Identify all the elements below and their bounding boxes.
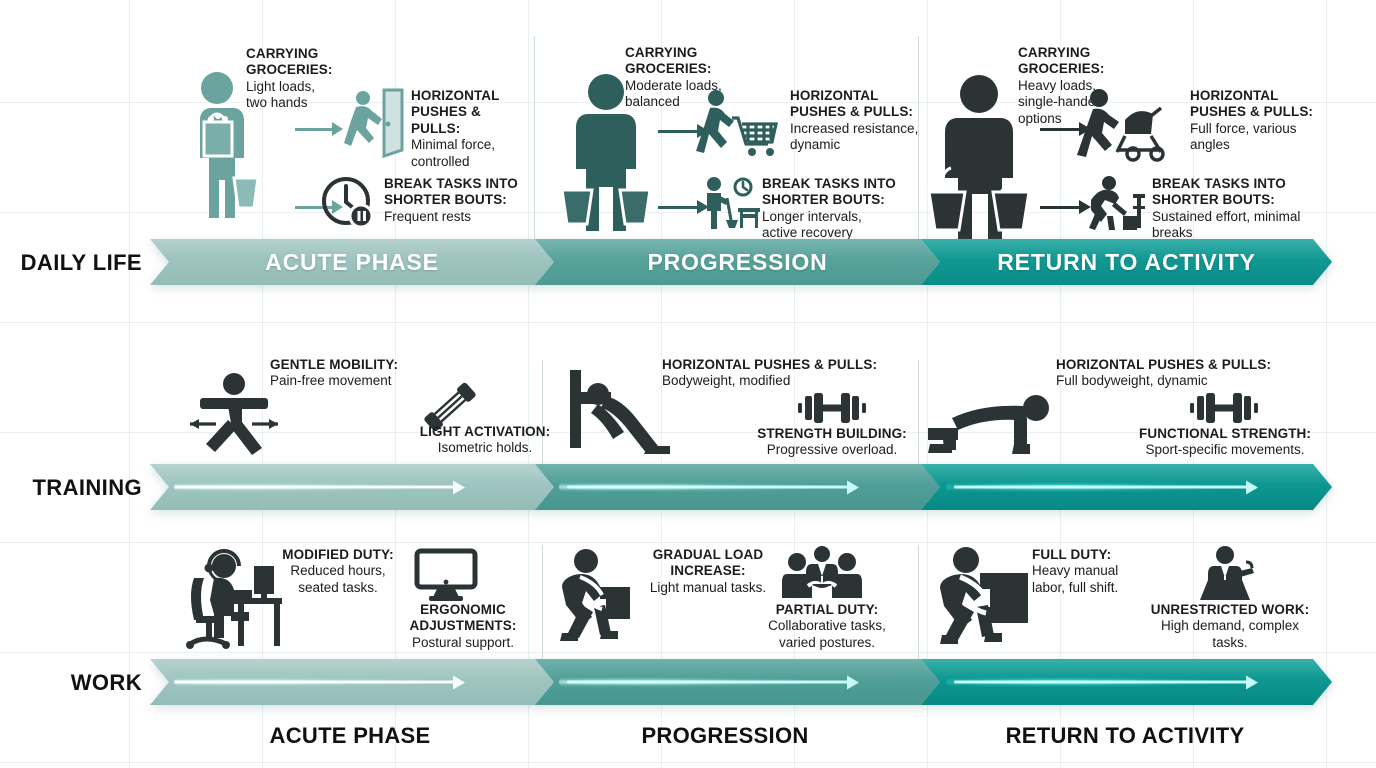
- bottom-caption-progression: PROGRESSION: [565, 723, 885, 749]
- tr-p3-item2-title: FUNCTIONAL STRENGTH:: [1125, 426, 1325, 442]
- wk-p3-item2-desc: High demand, complex tasks.: [1140, 618, 1320, 651]
- phase-segment-acute[interactable]: ACUTE PHASE: [150, 239, 554, 285]
- training-segment-return[interactable]: [921, 464, 1332, 510]
- person-lifting-small-box-icon: [560, 549, 638, 645]
- tr-p1-item1-title: GENTLE MOBILITY:: [270, 357, 470, 373]
- dl-p1-item1-title: CARRYING GROCERIES:: [246, 46, 361, 79]
- dl-p1-item3-text: BREAK TASKS INTO SHORTER BOUTS: Frequent…: [384, 176, 524, 225]
- dl-p3-item2-desc: Full force, various angles: [1190, 121, 1330, 154]
- clock-pause-icon: [320, 175, 378, 233]
- tr-p2-item1-title: HORIZONTAL PUSHES & PULLS:: [662, 357, 912, 373]
- wk-p2-item2-title: PARTIAL DUTY:: [752, 602, 902, 618]
- wk-p3-item2-text: UNRESTRICTED WORK: High demand, complex …: [1140, 602, 1320, 651]
- row-label-work: WORK: [0, 670, 142, 696]
- wk-p1-item1-text: MODIFIED DUTY: Reduced hours, seated tas…: [258, 547, 418, 596]
- dl-p2-item2-desc: Increased resistance, dynamic: [790, 121, 925, 154]
- dl-p3-connector-2: [1040, 200, 1091, 214]
- dl-p2-item3-text: BREAK TASKS INTO SHORTER BOUTS: Longer i…: [762, 176, 902, 242]
- dl-p3-item1-title: CARRYING GROCERIES:: [1018, 45, 1168, 78]
- training-arrow-1: [174, 484, 465, 491]
- dumbbell-icon: [798, 392, 866, 424]
- bottom-caption-acute: ACUTE PHASE: [190, 723, 510, 749]
- wk-p3-item2-title: UNRESTRICTED WORK:: [1140, 602, 1320, 618]
- wk-p2-item1-text: GRADUAL LOAD INCREASE: Light manual task…: [628, 547, 788, 596]
- training-arrow-3: [954, 484, 1258, 491]
- wk-p3-item1-desc: Heavy manual labor, full shift.: [1032, 563, 1182, 596]
- tr-p2-item2-title: STRENGTH BUILDING:: [742, 426, 922, 442]
- tr-p2-item2-text: STRENGTH BUILDING: Progressive overload.: [742, 426, 922, 459]
- dl-p3-item2-title: HORIZONTAL PUSHES & PULLS:: [1190, 88, 1330, 121]
- training-segment-progression[interactable]: [535, 464, 940, 510]
- tr-p3-item2-desc: Sport-specific movements.: [1125, 442, 1325, 458]
- progress-band-work: [150, 659, 1332, 705]
- phase-segment-return[interactable]: RETURN TO ACTIVITY: [921, 239, 1332, 285]
- tr-p3-item1-text: HORIZONTAL PUSHES & PULLS: Full bodyweig…: [1056, 357, 1316, 390]
- tr-p1-item2-title: LIGHT ACTIVATION:: [385, 424, 585, 440]
- wk-p2-item2-text: PARTIAL DUTY: Collaborative tasks, varie…: [752, 602, 902, 651]
- work-arrow-3: [954, 679, 1258, 686]
- dl-p3-item3-title: BREAK TASKS INTO SHORTER BOUTS:: [1152, 176, 1320, 209]
- work-arrow-2: [567, 679, 859, 686]
- tr-p3-item1-title: HORIZONTAL PUSHES & PULLS:: [1056, 357, 1316, 373]
- dumbbell-icon: [1190, 392, 1258, 424]
- incline-pushup-icon: [562, 370, 678, 458]
- dl-p3-item2-text: HORIZONTAL PUSHES & PULLS: Full force, v…: [1190, 88, 1330, 154]
- tr-p1-item2-desc: Isometric holds.: [385, 440, 585, 456]
- dl-p2-item3-title: BREAK TASKS INTO SHORTER BOUTS:: [762, 176, 902, 209]
- tr-p3-item1-desc: Full bodyweight, dynamic: [1056, 373, 1316, 389]
- wk-p3-item1-title: FULL DUTY:: [1032, 547, 1182, 563]
- column-divider-1: [534, 36, 535, 258]
- work-segment-return[interactable]: [921, 659, 1332, 705]
- row-label-training: TRAINING: [0, 475, 142, 501]
- training-segment-acute[interactable]: [150, 464, 554, 510]
- wk-p2-item1-title: GRADUAL LOAD INCREASE:: [628, 547, 788, 580]
- dl-p2-item1-title: CARRYING GROCERIES:: [625, 45, 785, 78]
- dl-p3-item3-desc: Sustained effort, minimal breaks: [1152, 209, 1320, 242]
- tr-p2-item2-desc: Progressive overload.: [742, 442, 922, 458]
- wk-p2-item1-desc: Light manual tasks.: [628, 580, 788, 596]
- tr-p3-item2-text: FUNCTIONAL STRENGTH: Sport-specific move…: [1125, 426, 1325, 459]
- dl-p1-connector-1: [295, 122, 343, 136]
- dl-p1-item3-title: BREAK TASKS INTO SHORTER BOUTS:: [384, 176, 524, 209]
- phase-segment-return-label: RETURN TO ACTIVITY: [997, 249, 1255, 276]
- dl-p1-item3-desc: Frequent rests: [384, 209, 524, 225]
- wk-p1-item2-text: ERGONOMIC ADJUSTMENTS: Postural support.: [378, 602, 548, 651]
- dl-p1-item1-desc: Light loads, two hands: [246, 79, 361, 112]
- person-mopping-clock-icon: [700, 176, 762, 230]
- person-shopping-cart-icon: [700, 88, 780, 162]
- person-gardening-icon: [1085, 176, 1149, 232]
- team-group-icon: [784, 546, 860, 598]
- person-carrying-large-box-icon: [942, 547, 1034, 647]
- person-pushing-stroller-icon: [1085, 86, 1171, 162]
- work-segment-acute[interactable]: [150, 659, 554, 705]
- training-arrow-2: [567, 484, 859, 491]
- rehabilitation-progression-infographic: CARRYING GROCERIES: Light loads, two han…: [0, 0, 1376, 768]
- work-segment-progression[interactable]: [535, 659, 940, 705]
- wk-p1-item1-title: MODIFIED DUTY:: [258, 547, 418, 563]
- dl-p1-item1-text: CARRYING GROCERIES: Light loads, two han…: [246, 46, 361, 112]
- dl-p2-item3-desc: Longer intervals, active recovery: [762, 209, 902, 242]
- dl-p3-item3-text: BREAK TASKS INTO SHORTER BOUTS: Sustaine…: [1152, 176, 1320, 242]
- phase-segment-progression-label: PROGRESSION: [647, 249, 827, 276]
- progress-band-training: [150, 464, 1332, 510]
- row-label-daily-life: DAILY LIFE: [0, 250, 142, 276]
- tr-p1-item2-text: LIGHT ACTIVATION: Isometric holds.: [385, 424, 585, 457]
- tr-p2-item1-desc: Bodyweight, modified: [662, 373, 912, 389]
- wk-p1-item2-title: ERGONOMIC ADJUSTMENTS:: [378, 602, 548, 635]
- wk-p2-item2-desc: Collaborative tasks, varied postures.: [752, 618, 902, 651]
- person-at-podium-icon: [1192, 546, 1258, 600]
- dl-p2-item2-text: HORIZONTAL PUSHES & PULLS: Increased res…: [790, 88, 925, 154]
- wk-p1-item2-desc: Postural support.: [378, 635, 548, 651]
- column-divider-6: [918, 545, 919, 660]
- phase-segment-acute-label: ACUTE PHASE: [265, 249, 439, 276]
- dl-p1-item2-desc: Minimal force, controlled: [411, 137, 531, 170]
- phase-segment-progression[interactable]: PROGRESSION: [535, 239, 940, 285]
- person-pushing-door-icon: [348, 86, 404, 158]
- work-arrow-1: [174, 679, 465, 686]
- phase-band-daily-life: ACUTE PHASE PROGRESSION RETURN TO ACTIVI…: [150, 239, 1332, 285]
- dl-p1-item2-text: HORIZONTAL PUSHES & PULLS: Minimal force…: [411, 88, 531, 170]
- dl-p2-item2-title: HORIZONTAL PUSHES & PULLS:: [790, 88, 925, 121]
- wk-p1-item1-desc: Reduced hours, seated tasks.: [258, 563, 418, 596]
- wk-p3-item1-text: FULL DUTY: Heavy manual labor, full shif…: [1032, 547, 1182, 596]
- person-heavy-bags-icon: [925, 72, 1033, 240]
- floor-pushup-icon: [928, 392, 1054, 458]
- tr-p2-item1-text: HORIZONTAL PUSHES & PULLS: Bodyweight, m…: [662, 357, 912, 390]
- dl-p3-connector-1: [1040, 122, 1091, 136]
- dl-p1-item2-title: HORIZONTAL PUSHES & PULLS:: [411, 88, 531, 137]
- monitor-icon: [415, 549, 477, 601]
- bottom-caption-return: RETURN TO ACTIVITY: [965, 723, 1285, 749]
